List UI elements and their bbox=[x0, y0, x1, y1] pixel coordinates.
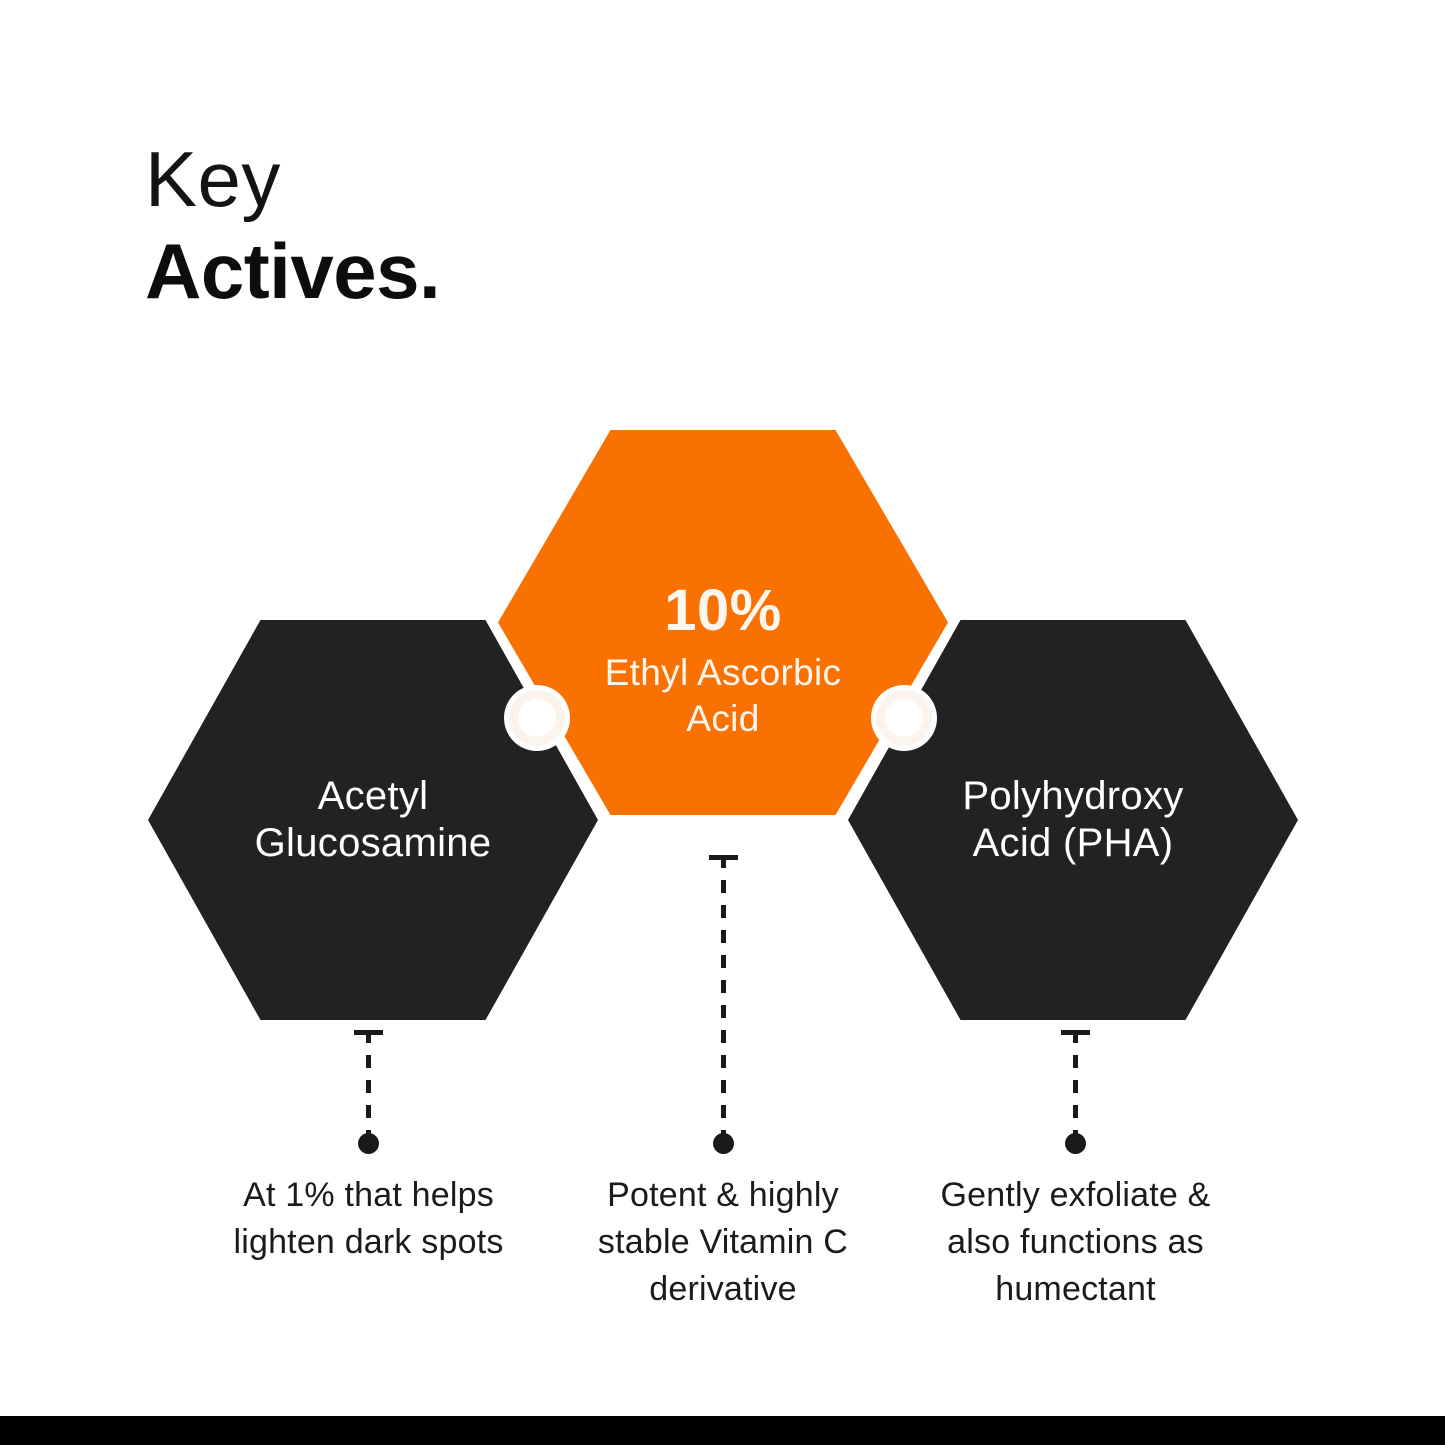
hexagon-label-line-1: Ethyl Ascorbic bbox=[605, 652, 842, 693]
hexagon-label-line-2: Acid (PHA) bbox=[973, 821, 1174, 865]
hexagon-polyhydroxy-acid: Polyhydroxy Acid (PHA) bbox=[848, 620, 1298, 1020]
hexagon-label-acetyl-glucosamine: Acetyl Glucosamine bbox=[255, 773, 492, 867]
circle-node-icon-left bbox=[509, 690, 565, 746]
hexagon-acetyl-glucosamine: Acetyl Glucosamine bbox=[148, 620, 598, 1020]
infographic-canvas: Key Actives. Acetyl Glucosamine Polyhydr… bbox=[0, 0, 1445, 1445]
dashed-leader-line-left bbox=[366, 1030, 371, 1135]
hexagon-ethyl-ascorbic-acid: 10% Ethyl Ascorbic Acid bbox=[498, 430, 948, 815]
hexagon-label-line-1: Polyhydroxy bbox=[962, 774, 1183, 818]
hexagon-label-polyhydroxy-acid: Polyhydroxy Acid (PHA) bbox=[962, 773, 1183, 867]
hexagon-label-line-2: Glucosamine bbox=[255, 821, 492, 865]
bottom-bar bbox=[0, 1416, 1445, 1445]
dashed-leader-line-center bbox=[721, 855, 726, 1135]
leader-cap-icon bbox=[709, 855, 738, 860]
hexagon-label-line-2: Acid bbox=[686, 698, 759, 739]
key-actives-diagram: Acetyl Glucosamine Polyhydroxy Acid (PHA… bbox=[0, 0, 1445, 1445]
caption-polyhydroxy-acid: Gently exfoliate & also functions as hum… bbox=[908, 1172, 1243, 1313]
leader-dot-icon bbox=[358, 1133, 379, 1154]
leader-cap-icon bbox=[354, 1030, 383, 1035]
hexagon-label-ethyl-ascorbic-acid: Ethyl Ascorbic Acid bbox=[605, 650, 842, 740]
circle-node-icon-right bbox=[876, 690, 932, 746]
hexagon-label-line-1: Acetyl bbox=[318, 774, 429, 818]
caption-acetyl-glucosamine: At 1% that helps lighten dark spots bbox=[196, 1172, 541, 1266]
dashed-leader-line-right bbox=[1073, 1030, 1078, 1135]
hexagon-percentage-value: 10% bbox=[664, 582, 782, 640]
leader-dot-icon bbox=[713, 1133, 734, 1154]
caption-ethyl-ascorbic-acid: Potent & highly stable Vitamin C derivat… bbox=[558, 1172, 888, 1313]
leader-cap-icon bbox=[1061, 1030, 1090, 1035]
leader-dot-icon bbox=[1065, 1133, 1086, 1154]
